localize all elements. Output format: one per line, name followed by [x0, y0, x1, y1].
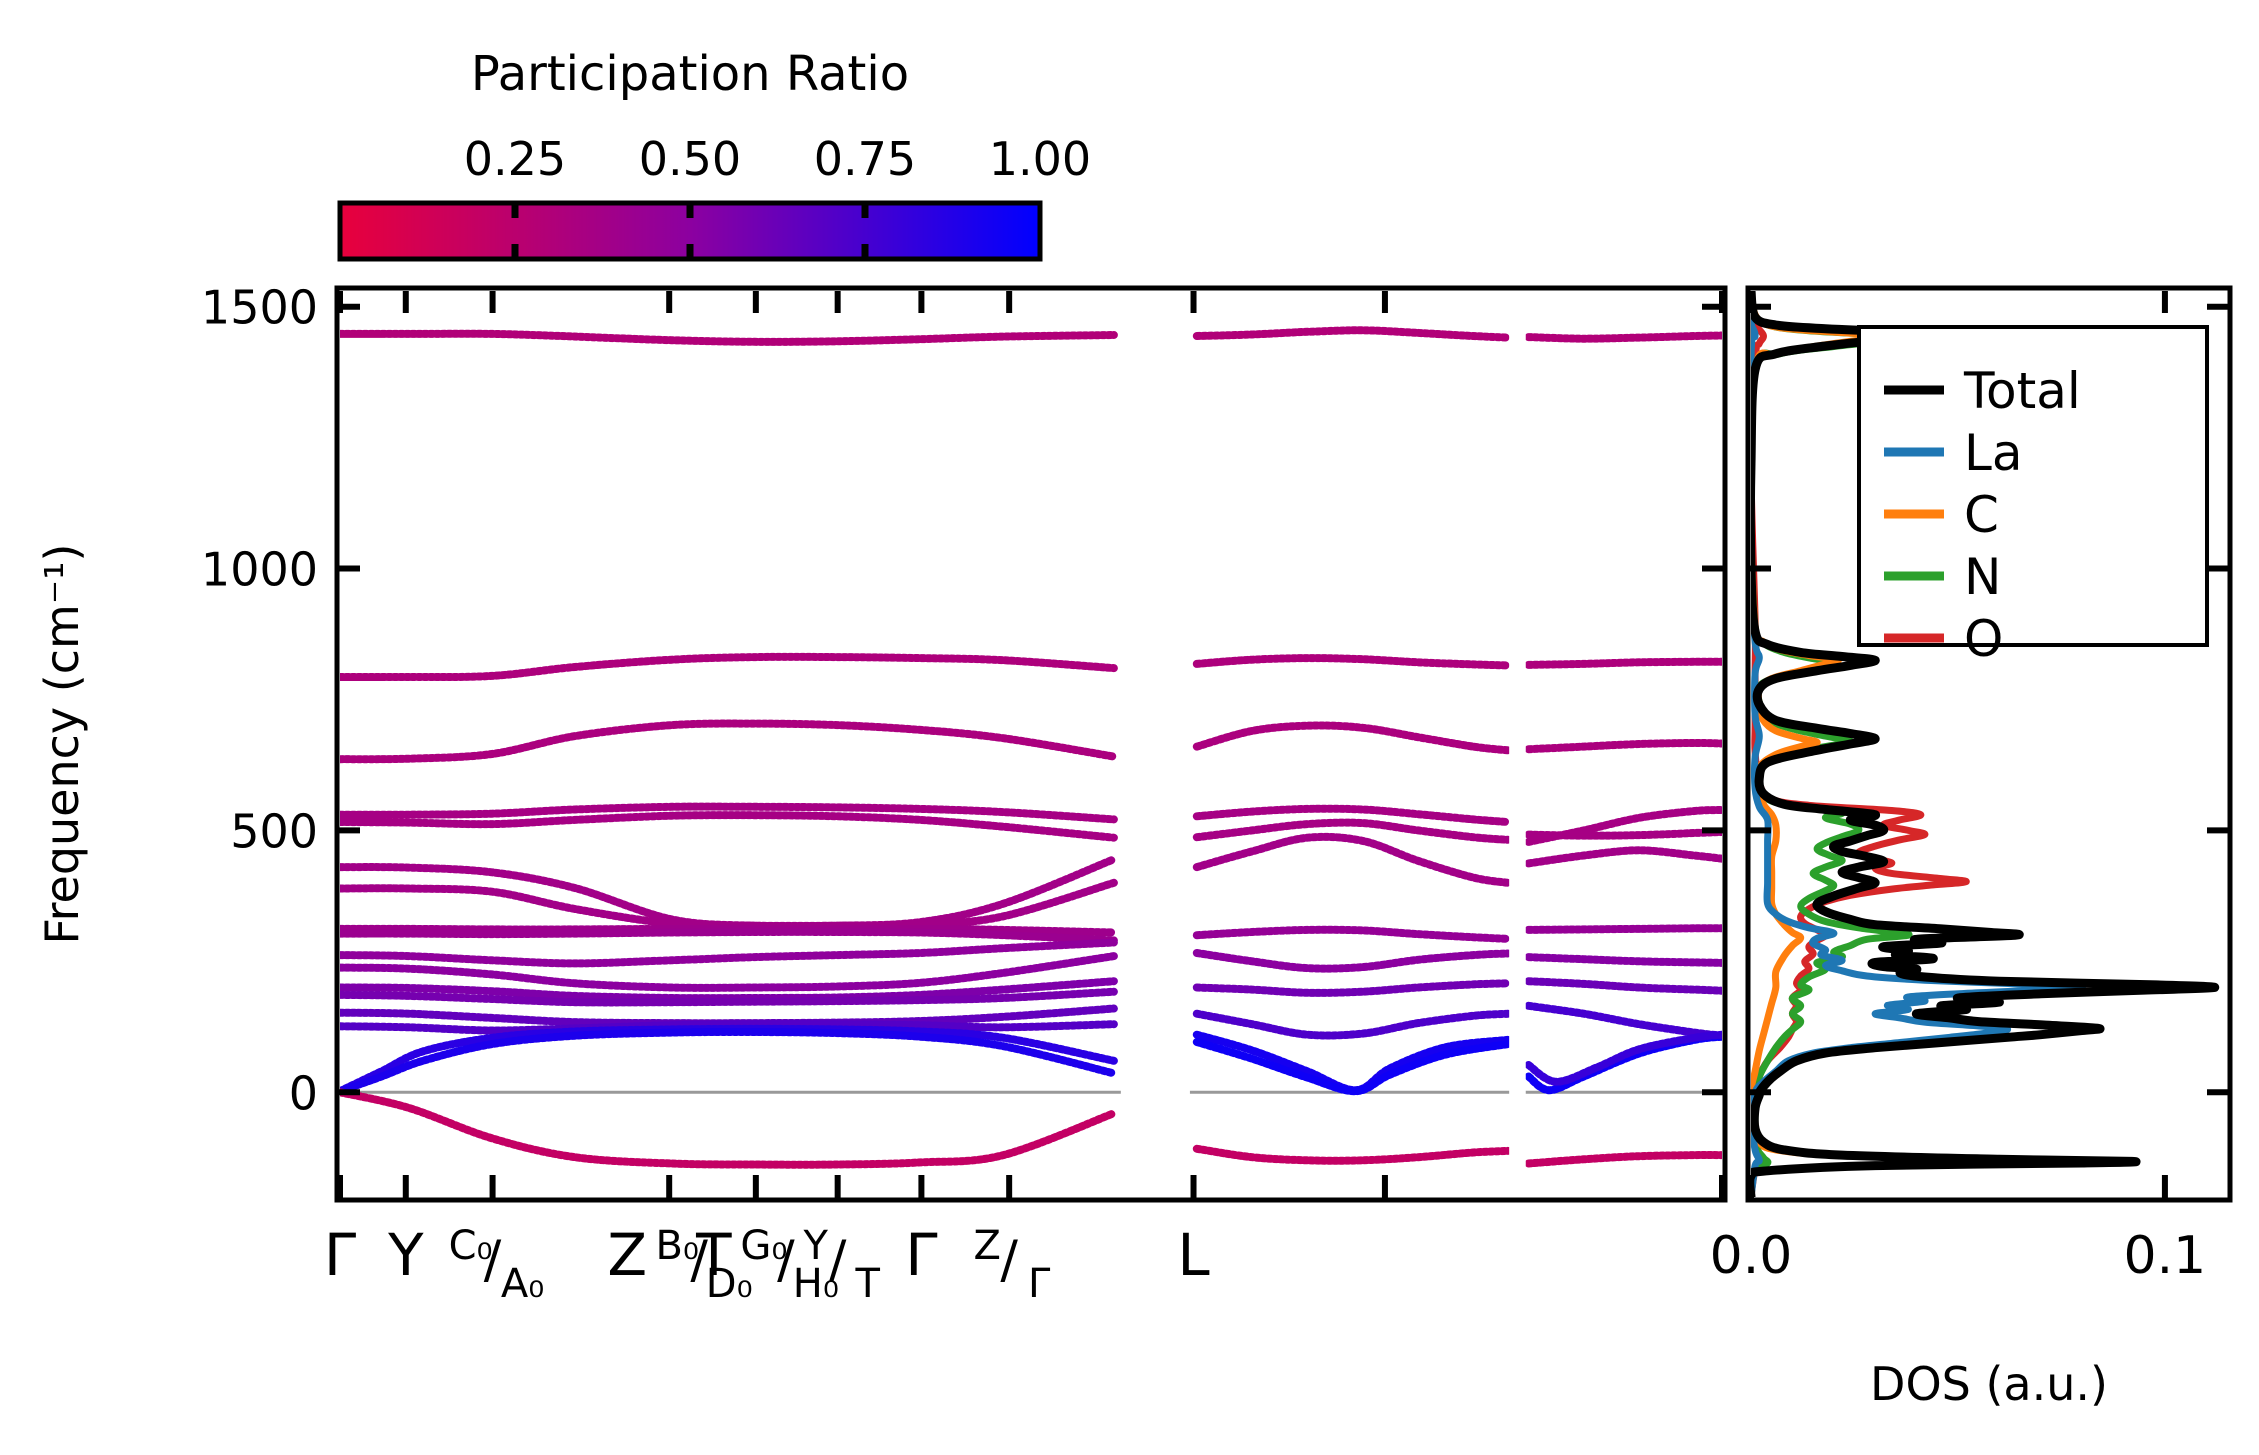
x-tick-label-slash: /: [484, 1230, 502, 1290]
x-tick-label-slash: /: [829, 1230, 847, 1290]
band-curve: [1529, 662, 1723, 665]
x-tick-label: L: [1177, 1221, 1209, 1289]
legend-label-c[interactable]: C: [1964, 486, 1999, 544]
x-tick-label-numerator: Y: [802, 1223, 828, 1269]
x-tick-label-main: Z: [607, 1221, 647, 1289]
x-tick-label-denominator: T: [854, 1261, 880, 1307]
x-tick-label: Γ: [905, 1221, 937, 1289]
figure-canvas: Participation Ratio 0.250.500.751.00 150…: [0, 0, 2259, 1455]
legend-label-o[interactable]: O: [1964, 610, 2003, 668]
dos-legend[interactable]: TotalLaCNO: [1859, 327, 2207, 668]
phonon-figure: Participation Ratio 0.250.500.751.00 150…: [0, 0, 2259, 1455]
x-tick-label-numerator: Z: [973, 1223, 1000, 1269]
band-curve: [1529, 336, 1723, 339]
y-tick-label: 1000: [201, 543, 318, 597]
x-tick-label: Y: [387, 1221, 424, 1289]
y-axis-label: Frequency (cm⁻¹): [35, 544, 89, 945]
colorbar-tick-label: 1.00: [989, 132, 1091, 186]
x-tick-label-main: T: [695, 1221, 732, 1289]
legend-label-total[interactable]: Total: [1963, 362, 2081, 420]
legend-label-la[interactable]: La: [1964, 424, 2023, 482]
y-tick-label: 1500: [201, 281, 318, 335]
dos-x-tick-label: 0.1: [2124, 1226, 2207, 1286]
legend-label-n[interactable]: N: [1964, 548, 2001, 606]
path-break-gap: [1121, 294, 1190, 1194]
y-tick-label: 0: [289, 1066, 318, 1120]
colorbar-tick-label: 0.50: [639, 132, 741, 186]
x-tick-label-denominator: Γ: [1028, 1261, 1051, 1307]
y-tick-label: 500: [230, 804, 318, 858]
x-tick-label-denominator: A₀: [501, 1261, 544, 1307]
x-tick-label-slash: /: [1000, 1230, 1018, 1290]
colorbar-title: Participation Ratio: [471, 46, 909, 102]
x-tick-label: Γ: [324, 1221, 356, 1289]
path-break-gap: [1509, 294, 1526, 1194]
colorbar-tick-label: 0.75: [814, 132, 916, 186]
colorbar-tick-label: 0.25: [464, 132, 566, 186]
dos-x-tick-label: 0.0: [1710, 1226, 1793, 1286]
band-curve: [1529, 832, 1723, 836]
x-tick-label-text: L: [1177, 1221, 1209, 1289]
x-tick-label-text: Y: [387, 1221, 424, 1289]
x-tick-label-text: Γ: [324, 1221, 356, 1289]
x-tick-label-text: Γ: [905, 1221, 937, 1289]
band-curve: [1529, 928, 1723, 930]
dos-x-axis-label: DOS (a.u.): [1870, 1357, 2108, 1411]
